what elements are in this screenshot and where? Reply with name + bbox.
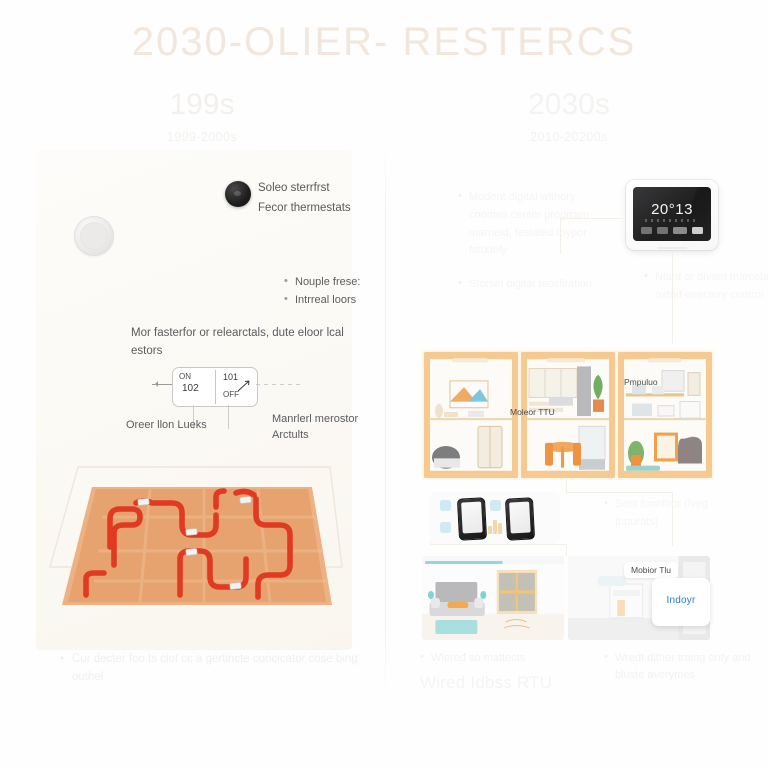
room-cell: [424, 352, 518, 478]
thermostat-foot: [657, 247, 686, 249]
thermostat-schedule-icon: [673, 227, 687, 234]
connector-vertical-b: [672, 252, 673, 344]
switch-divider: [215, 370, 216, 404]
right-bullet-list: Modent digital withory coomes center pro…: [418, 189, 598, 294]
left-leaks-label: Oreer llon Lueks: [126, 419, 207, 431]
app-icon: [440, 522, 451, 533]
sensor-dot-icon: [225, 181, 251, 207]
thermostat-screen: 20°13: [633, 187, 711, 241]
right-era-subheading: 2010-20200s: [392, 130, 746, 144]
app-icon: [440, 500, 451, 511]
right-phones-text: Sent foonfoor (lveg thourats): [604, 496, 744, 531]
connector-horizontal-e: [430, 544, 566, 545]
scene-tag-mobior: Mobior Tlu: [624, 562, 678, 578]
smartphones-panel: [430, 492, 560, 544]
radiant-floor-illustration: [40, 455, 350, 645]
right-phones-text-value: Sent foonfoor (lveg thourats): [604, 496, 744, 531]
right-caption-right: Wredt dither traing onty and bluste aver…: [604, 650, 754, 684]
thermostat-mode-icon: [641, 227, 652, 234]
thermostat-icon-row: [641, 227, 703, 234]
right-caption-left: Wlered so mattects Wired Idbss RTU: [420, 650, 600, 695]
list-item: Storsel digital reocliration: [458, 276, 598, 294]
left-mid-text: Mor fasterfor or relearctals, dute eloor…: [131, 325, 361, 361]
right-column: 2030s 2010-20200s: [392, 80, 746, 144]
switch-arrow-icon: [237, 380, 251, 392]
room-cell: [618, 352, 712, 478]
indoyr-card[interactable]: Indoyr: [652, 578, 710, 626]
thermostat-tick-marks: [645, 219, 699, 222]
smartphone-icon[interactable]: [505, 497, 535, 540]
bedroom-scene: [422, 556, 564, 640]
left-thermostat-label: Fecor thermestats: [258, 200, 354, 217]
page-title: 2030-OLIER- RESTERCS: [0, 20, 768, 65]
switch-output-line: [256, 384, 304, 385]
connector-horizontal-d: [566, 492, 672, 493]
analog-dial-icon: [74, 216, 114, 256]
left-era-heading: 199s: [22, 88, 382, 122]
left-column: 199s 1999-2000s: [22, 80, 382, 144]
left-bullet-list: Nouple frese: Intrreal loors: [244, 273, 404, 309]
list-item: Intrreal loors: [284, 291, 404, 309]
list-item: Modent digital withory coomes center pro…: [458, 189, 598, 260]
right-caption-small: Wlered so mattects: [420, 650, 600, 667]
switch-off-value: 101: [223, 372, 238, 382]
onoff-switch-diagram: ON 102 101 OFF: [172, 367, 258, 407]
connector-vertical-c: [566, 478, 567, 492]
thermostat-temperature-reading: 20°13: [633, 201, 711, 218]
list-item: Nlard or divant marcelak oxtnd enectory …: [644, 269, 768, 305]
switch-on-label: ON: [179, 372, 191, 381]
left-sensor-label: Soleo sterrfrst: [258, 180, 368, 197]
rooms-illustration-grid: Moleor TTU Pmpuluo: [422, 350, 714, 480]
column-divider: [385, 140, 386, 700]
right-caption-big: Wired Idbss RTU: [420, 670, 600, 696]
indoyr-card-label: Indoyr: [652, 595, 710, 606]
app-icon: [490, 500, 501, 511]
switch-leg-right: [228, 405, 229, 429]
signal-bars-icon: [488, 518, 502, 534]
left-caption-text: Cur decter foo ts ciot cc a gertincte co…: [60, 650, 360, 687]
room-label-pmpuluo: Pmpuluo: [624, 377, 658, 387]
digital-thermostat-device[interactable]: 20°13: [626, 180, 718, 250]
switch-on-value: 102: [182, 383, 199, 394]
right-bullet-list-secondary: Nlard or divant marcelak oxtnd enectory …: [604, 269, 768, 305]
right-caption-right-text: Wredt dither traing onty and bluste aver…: [604, 650, 754, 684]
left-caption: Cur decter foo ts ciot cc a gertincte co…: [60, 650, 360, 687]
infographic-page: 2030-OLIER- RESTERCS 199s 1999-2000s Sol…: [0, 0, 768, 768]
connector-vertical-a: [560, 218, 561, 254]
thermostat-battery-icon: [692, 227, 703, 234]
connector-vertical-e: [566, 544, 567, 556]
left-era-subheading: 1999-2000s: [22, 130, 382, 144]
right-era-heading: 2030s: [392, 88, 746, 122]
thermostat-fan-icon: [657, 227, 668, 234]
room-label-moleor: Moleor TTU: [510, 407, 555, 417]
left-manual-label: Manrlerl merostor Arctults: [272, 412, 368, 444]
list-item: Nouple frese:: [284, 273, 404, 291]
switch-input-arrow-icon: [152, 384, 173, 385]
connector-to-thermostat: [560, 218, 622, 219]
smartphone-icon[interactable]: [457, 497, 487, 540]
